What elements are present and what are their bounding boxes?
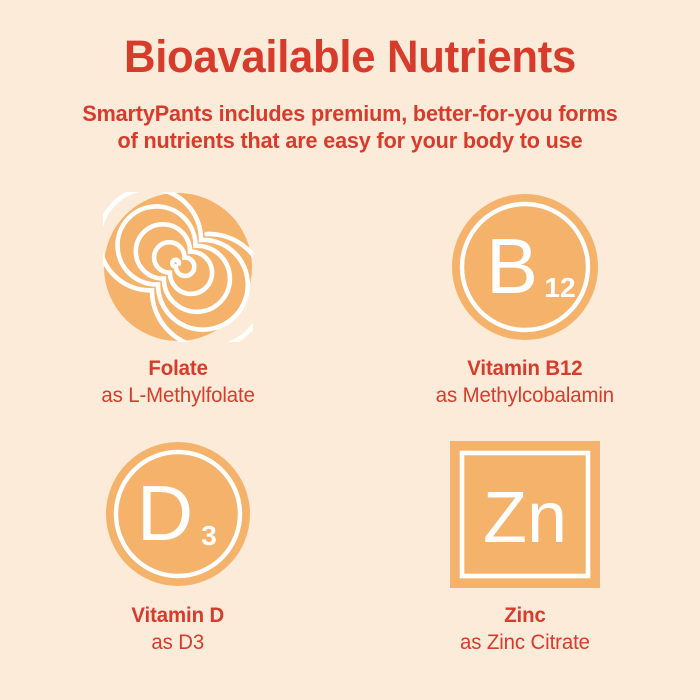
nutrient-item-folate: Folate as L-Methylfolate xyxy=(0,192,350,439)
vitamin-b12-icon: B 12 xyxy=(450,192,600,342)
bioavailable-nutrients-graphic: Bioavailable Nutrients SmartyPants inclu… xyxy=(0,0,700,700)
nutrient-name: Vitamin B12 xyxy=(436,356,614,382)
page-subtitle: SmartyPants includes premium, better-for… xyxy=(43,101,657,154)
subtitle-line-1: SmartyPants includes premium, better-for… xyxy=(43,101,657,128)
folate-spiral-icon xyxy=(103,192,253,342)
nutrient-form: as Zinc Citrate xyxy=(460,629,590,657)
nutrient-name: Folate xyxy=(101,356,254,382)
subtitle-line-2: of nutrients that are easy for your body… xyxy=(43,128,657,155)
d3-subscript: 3 xyxy=(201,520,217,551)
page-title: Bioavailable Nutrients xyxy=(11,34,690,79)
nutrient-form: as Methylcobalamin xyxy=(436,382,614,410)
nutrient-grid: Folate as L-Methylfolate B 12 Vitamin B1… xyxy=(0,192,700,686)
header: Bioavailable Nutrients SmartyPants inclu… xyxy=(0,34,700,154)
zinc-labels: Zinc as Zinc Citrate xyxy=(458,603,592,656)
folate-labels: Folate as L-Methylfolate xyxy=(99,356,257,409)
nutrient-form: as D3 xyxy=(132,629,225,657)
zn-letters: Zn xyxy=(483,478,567,558)
nutrient-name: Zinc xyxy=(460,603,590,629)
vitamin-d-labels: Vitamin D as D3 xyxy=(130,603,226,656)
zinc-icon: Zn xyxy=(450,439,600,589)
nutrient-form: as L-Methylfolate xyxy=(101,382,254,410)
nutrient-item-zinc: Zn Zinc as Zinc Citrate xyxy=(350,439,700,686)
vitamin-d-icon: D 3 xyxy=(103,439,253,589)
b12-letter: B xyxy=(486,222,538,310)
vitamin-b12-labels: Vitamin B12 as Methylcobalamin xyxy=(433,356,617,409)
b12-subscript: 12 xyxy=(544,272,575,303)
nutrient-item-vitamin-d: D 3 Vitamin D as D3 xyxy=(0,439,350,686)
d3-letter: D xyxy=(137,469,193,557)
nutrient-item-vitamin-b12: B 12 Vitamin B12 as Methylcobalamin xyxy=(350,192,700,439)
nutrient-name: Vitamin D xyxy=(132,603,225,629)
